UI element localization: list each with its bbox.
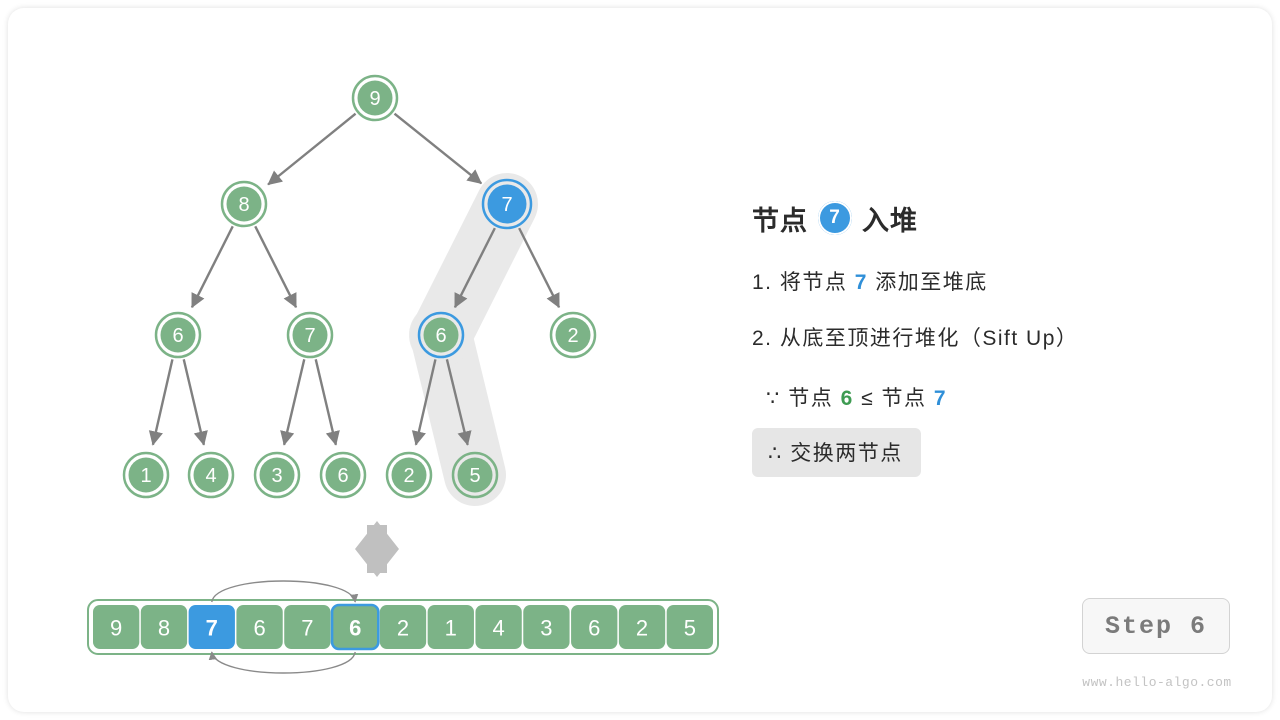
array-cell-label: 7 (301, 616, 313, 641)
step-1-part-a: 1. 将节点 (752, 271, 855, 294)
conclusion-wrap: ∴ 交换两节点 (752, 428, 1222, 477)
reason-left-value: 6 (841, 387, 854, 410)
conclusion-badge: ∴ 交换两节点 (752, 428, 921, 477)
step-line-2: 2. 从底至顶进行堆化（Sift Up） (752, 322, 1222, 352)
reason-operator: ≤ (861, 387, 874, 410)
step-badge: Step 6 (1082, 598, 1230, 654)
array-cell-label: 8 (158, 616, 170, 641)
therefore-symbol: ∴ (768, 442, 783, 465)
array-cell-label: 9 (110, 616, 122, 641)
array-cell-label: 2 (636, 616, 648, 641)
array-cell-label: 5 (684, 616, 696, 641)
because-symbol: ∵ (766, 387, 781, 410)
array-cell-label: 1 (445, 616, 457, 641)
array-cell-label: 6 (588, 616, 600, 641)
panel-title-node-chip: 7 (818, 201, 852, 235)
array-cell-label: 6 (349, 616, 361, 641)
heap-array: 9876762143625 (88, 600, 718, 654)
conclusion-text: 交换两节点 (790, 442, 903, 465)
reason-line: ∵ 节点 6 ≤ 节点 7 (766, 382, 1222, 412)
panel-title-suffix: 入堆 (862, 199, 918, 238)
array-cell-label: 4 (492, 616, 504, 641)
reason-right-label: 节点 (881, 387, 926, 410)
panel-title: 节点 7 入堆 (752, 196, 1222, 240)
array-cell-label: 7 (206, 616, 218, 641)
figure-root: 9876762143625 9876762143625 节点 7 入堆 1. 将… (0, 0, 1280, 720)
array-cell-label: 6 (253, 616, 265, 641)
array-cell-label: 2 (397, 616, 409, 641)
panel-title-prefix: 节点 (752, 199, 808, 238)
swap-arc-forward (212, 581, 355, 602)
swap-arc-backward (212, 652, 355, 673)
watermark: www.hello-algo.com (1072, 675, 1242, 690)
step-1-part-b: 添加至堆底 (868, 271, 988, 294)
array-cell-label: 3 (540, 616, 552, 641)
reason-left-label: 节点 (788, 387, 833, 410)
step-line-1: 1. 将节点 7 添加至堆底 (752, 266, 1222, 296)
reason-right-value: 7 (934, 387, 947, 410)
step-1-value: 7 (855, 271, 868, 294)
step-2-text: 2. 从底至顶进行堆化（Sift Up） (752, 327, 1078, 350)
explanation-panel: 节点 7 入堆 1. 将节点 7 添加至堆底 2. 从底至顶进行堆化（Sift … (752, 196, 1222, 477)
